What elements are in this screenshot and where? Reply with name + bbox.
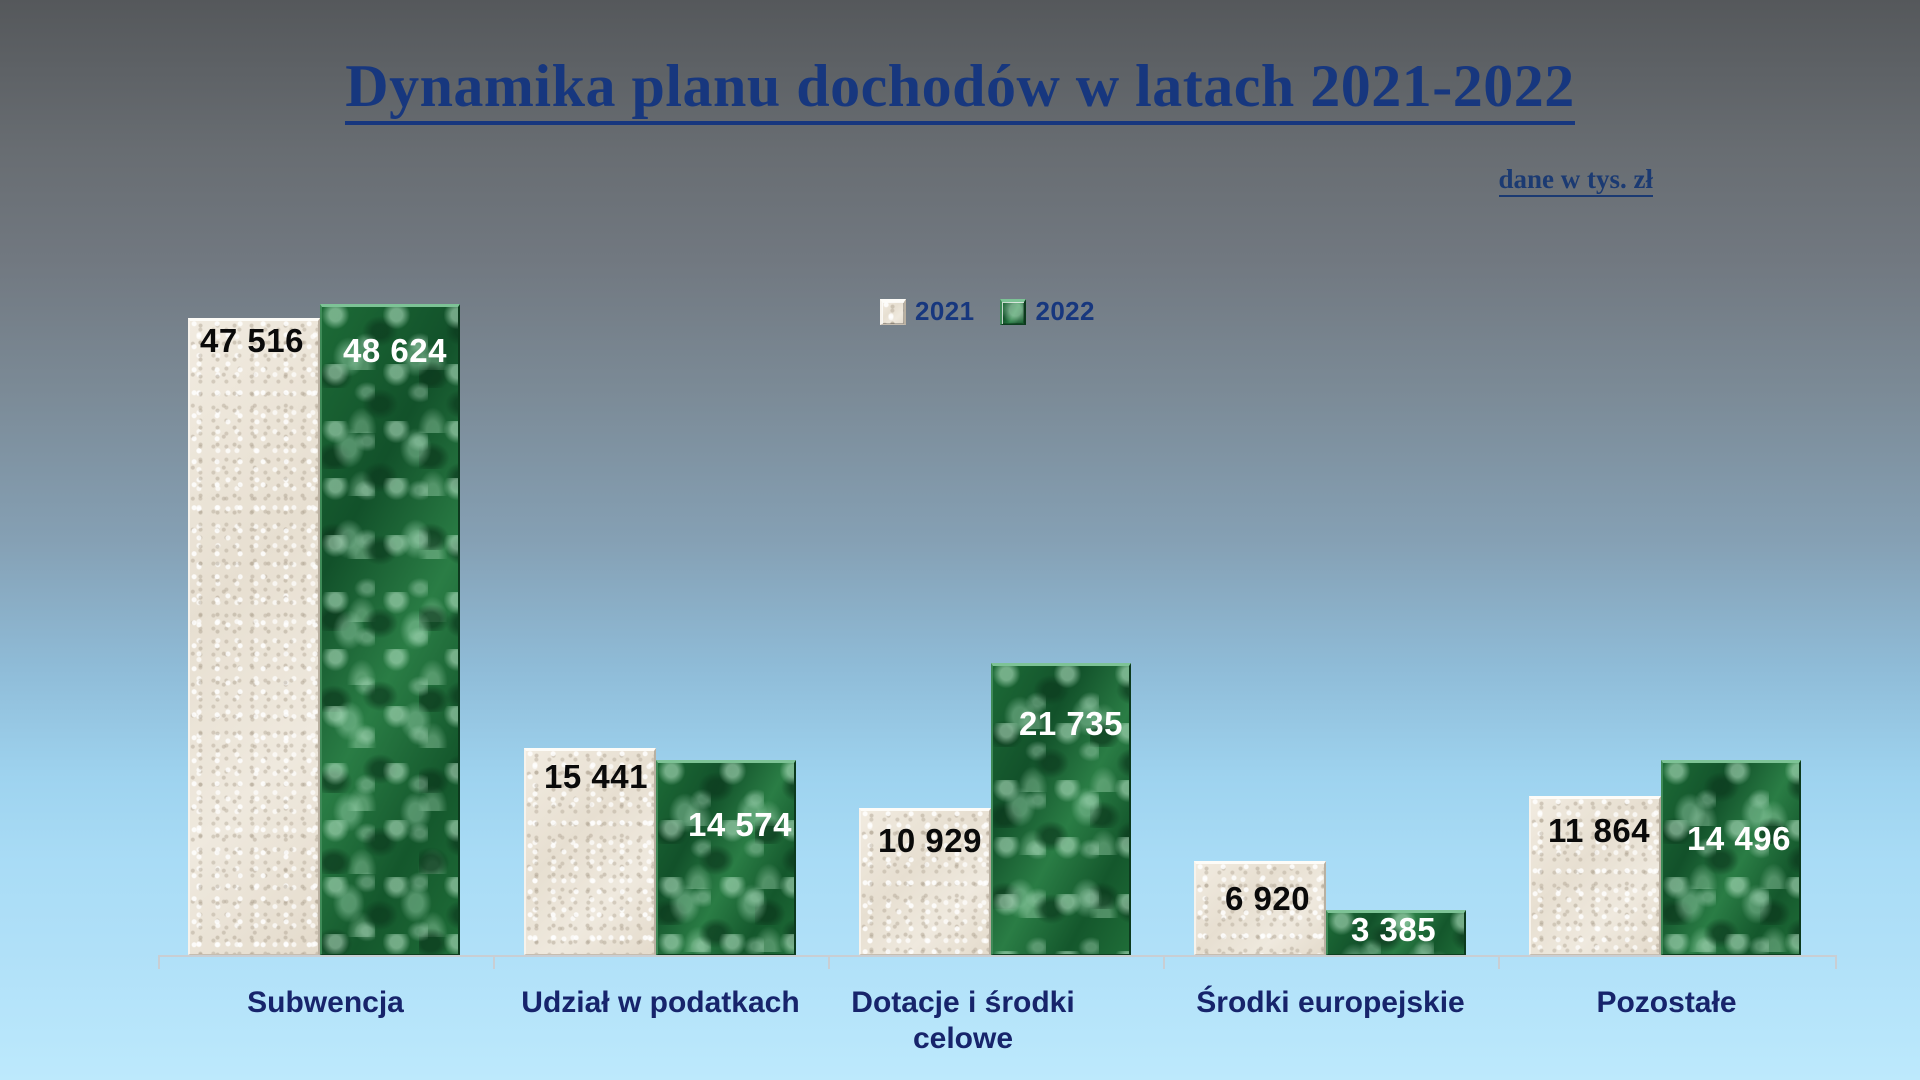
bar-value-2022: 14 574	[688, 806, 792, 844]
axis-tick	[1835, 955, 1837, 969]
axis-tick	[1163, 955, 1165, 969]
bar-value-2022: 48 624	[343, 332, 447, 370]
bar-value-2022: 3 385	[1351, 911, 1436, 949]
bar-2021-subwencja[interactable]	[188, 318, 320, 955]
category-label-dotacje-i-srodki-celowe: Dotacje i środki celowe	[838, 985, 1088, 1057]
category-label-udzial-w-podatkach: Udział w podatkach	[493, 985, 828, 1021]
bar-value-2021: 47 516	[200, 322, 304, 360]
category-axis-line	[158, 955, 1836, 957]
bar-value-2021: 6 920	[1225, 880, 1310, 918]
axis-tick	[828, 955, 830, 969]
category-label-pozostale: Pozostałe	[1498, 985, 1835, 1021]
axis-tick	[158, 955, 160, 969]
axis-tick	[493, 955, 495, 969]
bar-value-2022: 14 496	[1687, 820, 1791, 858]
slide-root: Dynamika planu dochodów w latach 2021-20…	[0, 0, 1920, 1080]
bar-2022-subwencja[interactable]	[320, 304, 460, 955]
axis-tick	[1498, 955, 1500, 969]
bar-chart-plot-area: 47 516 48 624 15 441 14 574 10 929 21 73…	[0, 0, 1920, 1080]
bar-value-2021: 10 929	[878, 822, 982, 860]
category-label-subwencja: Subwencja	[158, 985, 493, 1021]
bar-2022-udzial-w-podatkach[interactable]	[656, 760, 796, 955]
category-label-srodki-europejskie: Środki europejskie	[1163, 985, 1498, 1021]
bar-value-2021: 15 441	[544, 758, 648, 796]
bar-value-2021: 11 864	[1548, 812, 1650, 850]
bar-value-2022: 21 735	[1019, 705, 1123, 743]
